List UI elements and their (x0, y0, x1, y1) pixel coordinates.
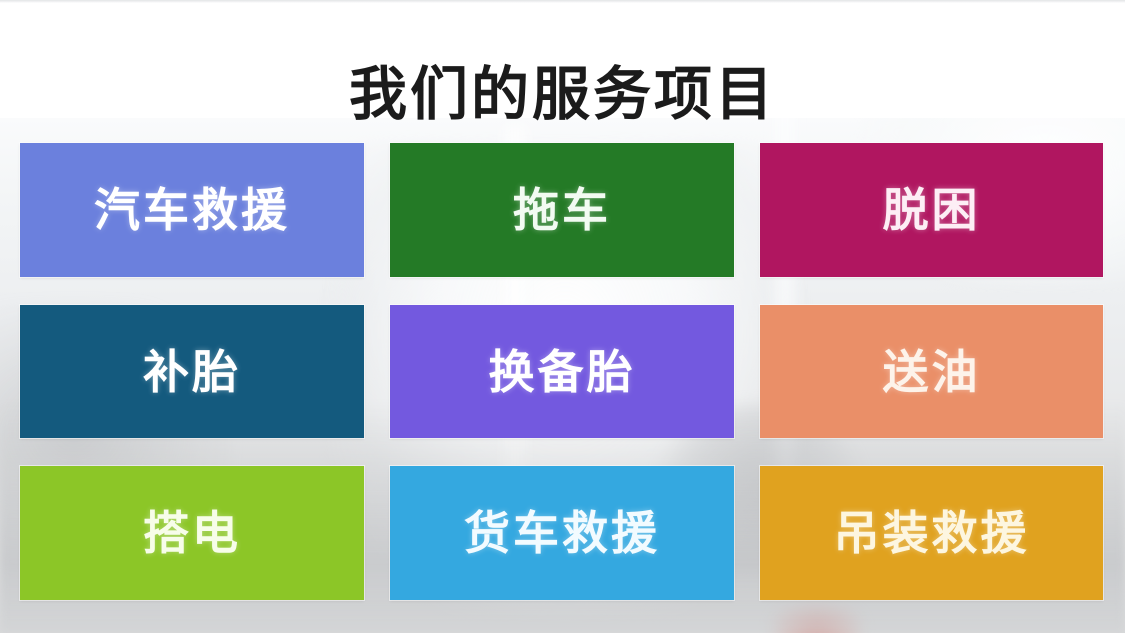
service-tile-grid: 汽车救援拖车脱困补胎换备胎送油搭电货车救援吊装救援 (20, 143, 1103, 601)
service-tile-car-rescue[interactable]: 汽车救援 (20, 143, 364, 277)
top-divider (0, 0, 1125, 3)
service-tile-towing[interactable]: 拖车 (390, 143, 734, 277)
service-poster: 我们的服务项目 汽车救援拖车脱困补胎换备胎送油搭电货车救援吊装救援 (0, 0, 1125, 633)
service-tile-fuel-delivery[interactable]: 送油 (760, 305, 1103, 438)
service-tile-label: 送油 (883, 349, 981, 395)
service-tile-label: 脱困 (883, 187, 981, 233)
service-tile-label: 搭电 (143, 510, 241, 556)
service-tile-label: 补胎 (143, 349, 241, 395)
service-tile-extrication[interactable]: 脱困 (760, 143, 1103, 277)
service-tile-jump-start[interactable]: 搭电 (20, 466, 364, 600)
page-title: 我们的服务项目 (0, 59, 1125, 131)
service-tile-label: 货车救援 (464, 510, 660, 556)
service-tile-label: 汽车救援 (94, 187, 290, 233)
service-tile-label: 吊装救援 (834, 510, 1030, 556)
service-tile-label: 换备胎 (489, 349, 636, 395)
service-tile-crane-rescue[interactable]: 吊装救援 (760, 466, 1103, 600)
service-tile-label: 拖车 (513, 187, 611, 233)
service-tile-tire-repair[interactable]: 补胎 (20, 305, 364, 438)
service-tile-truck-rescue[interactable]: 货车救援 (390, 466, 734, 600)
service-tile-spare-tire-change[interactable]: 换备胎 (390, 305, 734, 438)
background-tail-lamp (772, 604, 862, 633)
